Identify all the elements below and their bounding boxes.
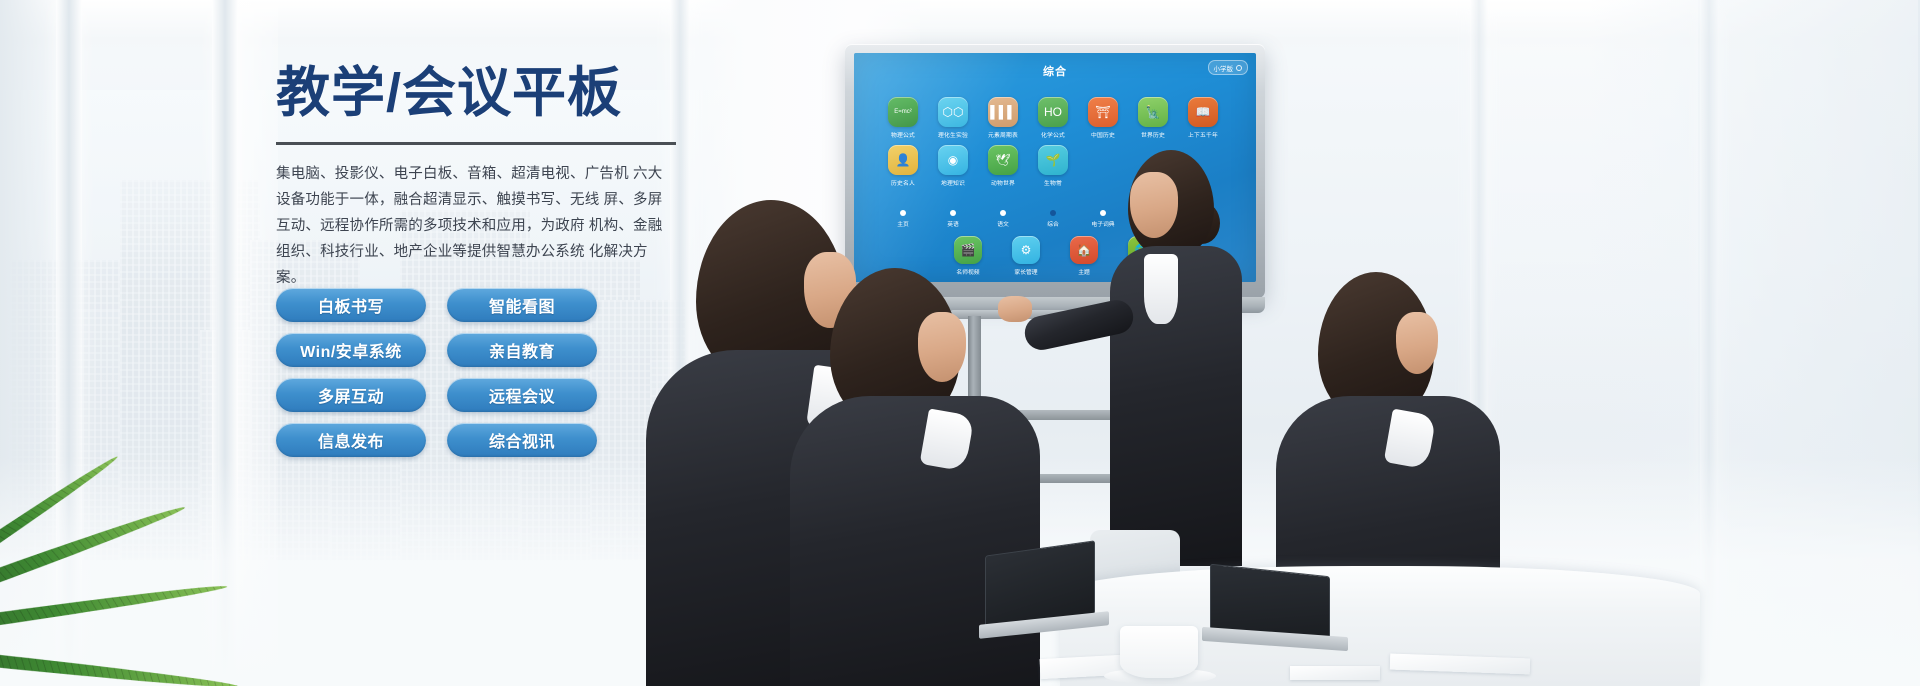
app-label: 上下五千年 [1188,130,1218,139]
notebook [1290,666,1380,680]
app-label: 化学公式 [1041,130,1065,139]
face [918,312,966,382]
hero-text-block: 教学/会议平板 集电脑、投影仪、电子白板、音箱、超清电视、广告机 六大设备功能于… [276,62,696,291]
app-label: 历史名人 [891,178,915,187]
app-icon-cell[interactable]: 🌱生物常 [1030,145,1076,187]
dock-tile-icon[interactable]: 🎬 [954,236,982,264]
app-label: 世界历史 [1141,130,1165,139]
app-label: 理化生实验 [938,130,968,139]
feature-button-parent-child-education[interactable]: 亲自教育 [447,333,597,367]
app-icon-cell[interactable]: 📖上下五千年 [1180,97,1226,139]
nav-dot-icon [950,210,956,216]
app-tile-icon[interactable]: 📖 [1188,97,1218,127]
app-tile-icon[interactable]: ◉ [938,145,968,175]
app-tile-icon[interactable]: E=mc² [888,97,918,127]
nav-item[interactable]: 英语 [930,210,976,228]
app-tile-icon[interactable]: 🕊 [988,145,1018,175]
app-label: 动物世界 [991,178,1015,187]
feature-button-win-android-system[interactable]: Win/安卓系统 [276,333,426,367]
nav-item[interactable]: 语文 [980,210,1026,228]
app-label: 元素周期表 [988,130,1018,139]
app-icon-cell[interactable]: E=mc²物理公式 [880,97,926,139]
refresh-icon [1236,65,1242,71]
coffee-cup [1120,626,1198,678]
intro-paragraph: 集电脑、投影仪、电子白板、音箱、超清电视、广告机 六大设备功能于一体，融合超清显… [276,161,676,291]
shirt-collar [1144,254,1178,324]
feature-button-integrated-video[interactable]: 综合视讯 [447,423,597,457]
app-label: 物理公式 [891,130,915,139]
app-icon-cell[interactable]: ⬡⬡理化生实验 [930,97,976,139]
nav-dot-icon [1100,210,1106,216]
app-label: 生物常 [1044,178,1062,187]
nav-item[interactable]: 综合 [1030,210,1076,228]
app-label: 中国历史 [1091,130,1115,139]
feature-button-multi-screen-interaction[interactable]: 多屏互动 [276,378,426,412]
feature-button-remote-conference[interactable]: 远程会议 [447,378,597,412]
nav-dot-icon [900,210,906,216]
palm-plant [0,466,300,686]
app-tile-icon[interactable]: 🗽 [1138,97,1168,127]
nav-dot-icon [1050,210,1056,216]
nav-dot-icon [1000,210,1006,216]
page-title: 教学/会议平板 [276,62,696,124]
app-icon-cell[interactable]: 👤历史名人 [880,145,926,187]
feature-button-group[interactable]: 白板书写智能看图Win/安卓系统亲自教育多屏互动远程会议信息发布综合视讯 [276,288,597,457]
dock-item[interactable]: 🏠主题 [1058,236,1110,276]
nav-label: 英语 [947,219,959,228]
app-tile-icon[interactable]: 🌱 [1038,145,1068,175]
app-icon-cell[interactable]: 🕊动物世界 [980,145,1026,187]
nav-label: 综合 [1047,219,1059,228]
laptop-left [985,548,1105,644]
app-tile-icon[interactable]: 👤 [888,145,918,175]
hand [998,296,1032,322]
dock-tile-icon[interactable]: ⚙ [1012,236,1040,264]
app-icon-cell[interactable]: ⛩中国历史 [1080,97,1126,139]
feature-button-information-publishing[interactable]: 信息发布 [276,423,426,457]
app-icon-cell[interactable]: 🗽世界历史 [1130,97,1176,139]
title-divider [276,142,676,145]
grade-badge-label: 小学版 [1214,63,1234,73]
grade-badge[interactable]: 小学版 [1208,60,1249,75]
app-tile-icon[interactable]: HO [1038,97,1068,127]
screen-title: 综合 [854,63,1256,79]
person-presenter [1110,150,1260,570]
feature-button-smart-image-view[interactable]: 智能看图 [447,288,597,322]
app-label: 地理知识 [941,178,965,187]
laptop-right [1210,570,1340,660]
dock-label: 主题 [1078,267,1090,276]
app-tile-icon[interactable]: ⬡⬡ [938,97,968,127]
app-tile-icon[interactable]: ⛩ [1088,97,1118,127]
feature-button-whiteboard-writing[interactable]: 白板书写 [276,288,426,322]
app-icon-cell[interactable]: ◉地理知识 [930,145,976,187]
nav-label: 语文 [997,219,1009,228]
dock-tile-icon[interactable]: 🏠 [1070,236,1098,264]
app-icon-cell[interactable]: ▌▌▌元素周期表 [980,97,1026,139]
app-icon-cell[interactable]: HO化学公式 [1030,97,1076,139]
app-tile-icon[interactable]: ▌▌▌ [988,97,1018,127]
